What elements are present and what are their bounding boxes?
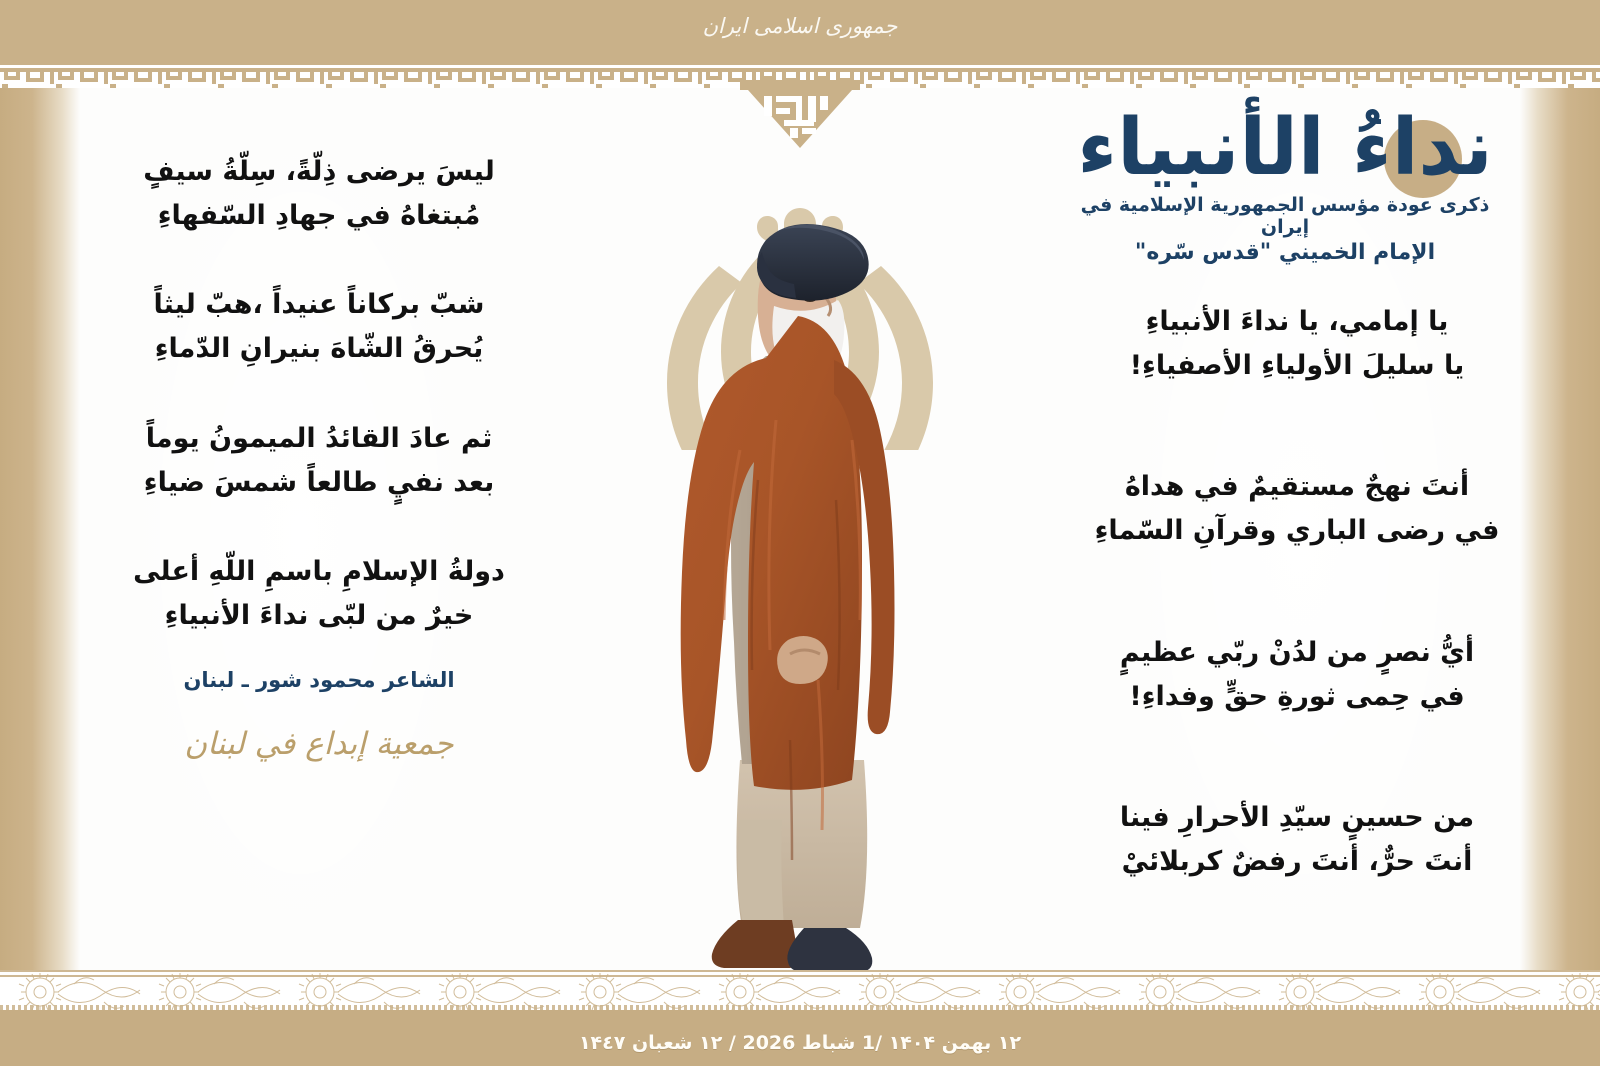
poem-column-right: يا إمامي، يا نداءَ الأنبياءِ يا سليلَ ال… xyxy=(1082,300,1512,962)
poem-line: من حسينٍ سيّدِ الأحرارِ فينا xyxy=(1082,796,1512,840)
poem-line: ليسَ يرضى ذِلّةً، سِلّةُ سيفٍ xyxy=(104,150,534,194)
header-title: جمهوری اسلامی ایران xyxy=(0,14,1600,38)
poet-credit: الشاعر محمود شور ـ لبنان xyxy=(104,668,534,692)
nidaa-alanbiya-logo: نداءُ الأنبياء ذكرى عودة مؤسس الجمهورية … xyxy=(1060,108,1510,265)
poem-line: أنتَ حرٌّ، أنتَ رفضٌ كربلائيْ xyxy=(1082,840,1512,884)
stanza: دولةُ الإسلامِ باسمِ اللّهِ أعلى خيرٌ من… xyxy=(104,550,534,637)
floral-arabesque-border xyxy=(0,970,1600,1010)
stanza: أنتَ نهجٌ مستقيمٌ في هداهُ في رضى الباري… xyxy=(1082,465,1512,552)
imam-khomeini-portrait xyxy=(590,120,1010,980)
logo-wordmark: نداءُ الأنبياء xyxy=(1060,108,1510,190)
left-gold-panel xyxy=(0,0,80,1066)
poem-line: يا سليلَ الأولياءِ الأصفياءِ! xyxy=(1082,344,1512,388)
stanza: أيُّ نصرٍ من لدُنْ ربّي عظيمٍ في حِمى ثو… xyxy=(1082,631,1512,718)
stanza: يا إمامي، يا نداءَ الأنبياءِ يا سليلَ ال… xyxy=(1082,300,1512,387)
poem-column-left: ليسَ يرضى ذِلّةً، سِلّةُ سيفٍ مُبتغاهُ ف… xyxy=(104,150,534,762)
stanza: من حسينٍ سيّدِ الأحرارِ فينا أنتَ حرٌّ، … xyxy=(1082,796,1512,883)
logo-subtitle-secondary: الإمام الخميني "قدس سّره" xyxy=(1060,240,1510,265)
poem-line: يُحرقُ الشّاهَ بنيرانِ الدّماءِ xyxy=(104,327,534,371)
dotted-rule xyxy=(0,1005,1600,1010)
stanza: ليسَ يرضى ذِلّةً، سِلّةُ سيفٍ مُبتغاهُ ف… xyxy=(104,150,534,237)
poster-canvas: جمهوری اسلامی ایران xyxy=(0,0,1600,1066)
kufic-medallion-ornament xyxy=(740,80,860,156)
poem-line: في رضى الباري وقرآنِ السّماءِ xyxy=(1082,509,1512,553)
logo-subtitle-primary: ذكرى عودة مؤسس الجمهورية الإسلامية في إي… xyxy=(1060,194,1510,238)
poem-line: يا إمامي، يا نداءَ الأنبياءِ xyxy=(1082,300,1512,344)
poem-line: أنتَ نهجٌ مستقيمٌ في هداهُ xyxy=(1082,465,1512,509)
footer-date: ۱۲ بهمن ۱۴۰۴ /1 شباط 2026 / ۱۲ شعبان ۱۴٤… xyxy=(0,1032,1600,1054)
poem-line: مُبتغاهُ في جهادِ السّفهاءِ xyxy=(104,194,534,238)
poem-line: بعد نفيٍ طالعاً شمسَ ضياءِ xyxy=(104,461,534,505)
stanza: شبّ بركاناً عنيداً ،هبّ ليثاً يُحرقُ الش… xyxy=(104,283,534,370)
poem-line: شبّ بركاناً عنيداً ،هبّ ليثاً xyxy=(104,283,534,327)
poem-line: دولةُ الإسلامِ باسمِ اللّهِ أعلى xyxy=(104,550,534,594)
right-gold-panel xyxy=(1520,0,1600,1066)
poem-line: أيُّ نصرٍ من لدُنْ ربّي عظيمٍ xyxy=(1082,631,1512,675)
poem-line: خيرٌ من لبّى نداءَ الأنبياءِ xyxy=(104,594,534,638)
poem-line: ثم عادَ القائدُ الميمونُ يوماً xyxy=(104,417,534,461)
association-calligraphy-logo: جمعية إبداع في لبنان xyxy=(104,726,534,762)
poem-line: في حِمى ثورةِ حقٍّ وفداءِ! xyxy=(1082,675,1512,719)
stanza: ثم عادَ القائدُ الميمونُ يوماً بعد نفيٍ … xyxy=(104,417,534,504)
